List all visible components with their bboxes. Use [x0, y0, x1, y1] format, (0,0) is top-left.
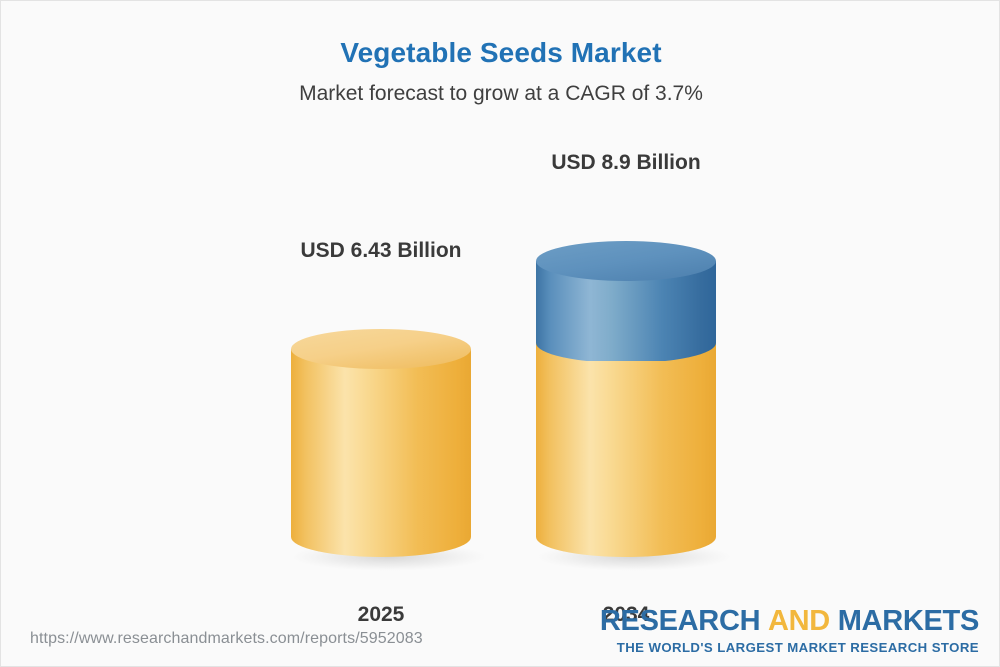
chart-header: Vegetable Seeds Market Market forecast t… — [1, 37, 1000, 106]
bar-group-2025: USD 6.43 Billion — [286, 281, 476, 571]
cylinder-2034 — [531, 243, 721, 571]
chart-subtitle: Market forecast to grow at a CAGR of 3.7… — [1, 82, 1000, 106]
page-title: Vegetable Seeds Market — [1, 37, 1000, 69]
bar-value-label-2025: USD 6.43 Billion — [286, 239, 476, 263]
source-url-link[interactable]: https://www.researchandmarkets.com/repor… — [30, 630, 423, 648]
cylinder-top-cap-2025 — [291, 329, 471, 369]
cylinder-2025 — [286, 331, 476, 571]
logo-wordmark: RESEARCH AND MARKETS — [600, 607, 979, 636]
logo-tagline: THE WORLD'S LARGEST MARKET RESEARCH STOR… — [600, 641, 979, 654]
brand-logo[interactable]: RESEARCH AND MARKETS THE WORLD'S LARGEST… — [600, 607, 979, 654]
chart-plot-area: USD 6.43 Billion — [1, 141, 1000, 571]
logo-word-markets: MARKETS — [838, 605, 979, 637]
infographic-canvas: Vegetable Seeds Market Market forecast t… — [0, 0, 1000, 667]
bar-group-2034: USD 8.9 Billion — [531, 281, 721, 571]
bar-value-label-2034: USD 8.9 Billion — [531, 151, 721, 175]
footer: https://www.researchandmarkets.com/repor… — [1, 596, 1000, 666]
logo-word-research: RESEARCH — [600, 605, 760, 637]
logo-word-and: AND — [768, 605, 830, 637]
cylinder-top-cap-2034 — [536, 241, 716, 281]
cylinder-body-2025 — [291, 349, 471, 557]
